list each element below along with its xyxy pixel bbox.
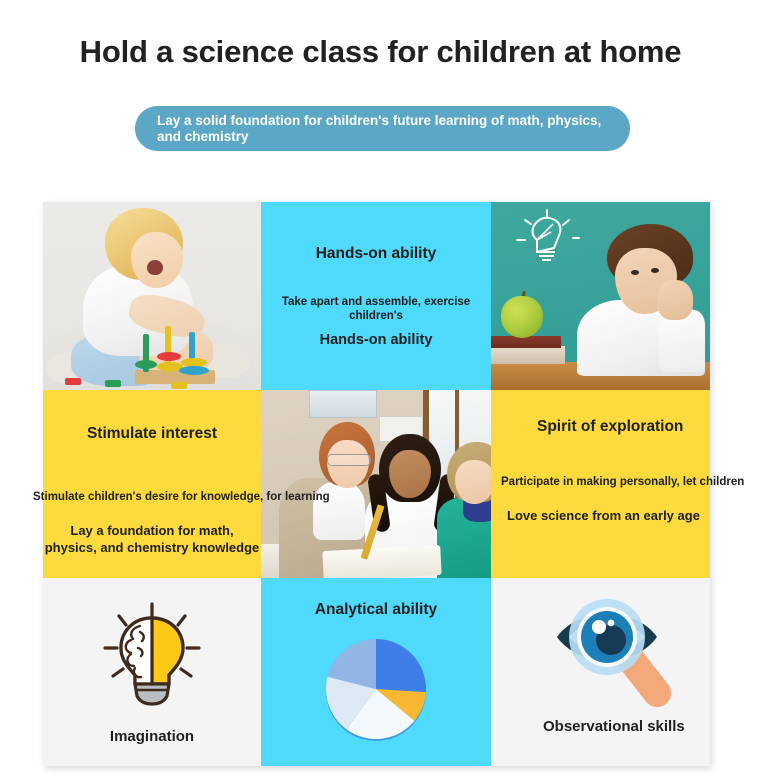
subtitle-text: Lay a solid foundation for children's fu…	[157, 113, 608, 145]
grid-cell-spirit-of-exploration: Spirit of exploration Participate in mak…	[491, 390, 710, 578]
spirit-subtext: Participate in making personally, let ch…	[501, 475, 710, 489]
grid-cell-stimulate-interest: Stimulate interest Stimulate children's …	[43, 390, 261, 578]
pie-chart-icon	[318, 631, 434, 752]
pie-slice	[376, 639, 426, 692]
hands-on-heading: Hands-on ability	[261, 244, 491, 263]
grid-cell-imagination: Imagination	[43, 578, 261, 766]
analytical-heading: Analytical ability	[315, 600, 437, 619]
chalk-lightbulb-icon	[513, 208, 583, 268]
brain-lightbulb-icon	[93, 596, 211, 719]
grid-cell-analytical-ability: Analytical ability	[261, 578, 491, 766]
page-title: Hold a science class for children at hom…	[0, 34, 761, 70]
grid-cell-classroom-photo	[261, 390, 491, 578]
stimulate-subtext: Stimulate children's desire for knowledg…	[33, 490, 261, 504]
eye-magnifier-icon	[547, 590, 697, 715]
spirit-subtext-2: Love science from an early age	[507, 507, 710, 524]
grid-cell-thinking-boy-photo	[491, 202, 710, 390]
hands-on-subtext-2: Hands-on ability	[261, 332, 491, 349]
stimulate-heading: Stimulate interest	[43, 424, 261, 443]
feature-grid: Hands-on ability Take apart and assemble…	[43, 202, 710, 766]
hands-on-subtext: Take apart and assemble, exercise childr…	[261, 295, 491, 323]
teacher-with-children-photo	[261, 390, 491, 578]
boy-at-desk-with-apple-photo	[491, 202, 710, 390]
imagination-label: Imagination	[110, 727, 194, 746]
subtitle-banner: Lay a solid foundation for children's fu…	[135, 106, 630, 151]
grid-cell-observational-skills: Observational skills	[491, 578, 710, 766]
stimulate-subtext-2: Lay a foundation for math, physics, and …	[43, 522, 261, 556]
grid-cell-hands-on-ability: Hands-on ability Take apart and assemble…	[261, 202, 491, 390]
toddler-playing-with-blocks-photo	[43, 202, 261, 390]
spirit-heading: Spirit of exploration	[537, 417, 710, 436]
grid-cell-toddler-photo	[43, 202, 261, 390]
observational-skills-label: Observational skills	[543, 717, 685, 736]
